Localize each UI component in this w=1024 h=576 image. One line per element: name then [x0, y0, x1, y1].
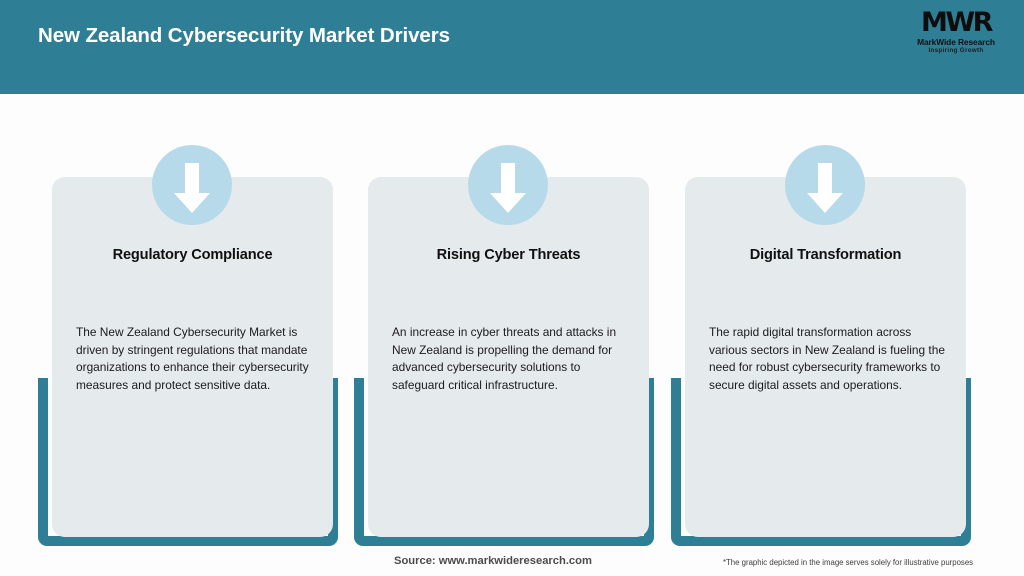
driver-card[interactable]: Rising Cyber Threats An increase in cybe…: [368, 177, 649, 537]
driver-card-body: The New Zealand Cybersecurity Market is …: [76, 324, 317, 394]
arrow-down-icon: [785, 145, 865, 225]
slide-canvas: New Zealand Cybersecurity Market Drivers…: [0, 0, 1024, 576]
driver-card-group-2: Rising Cyber Threats An increase in cybe…: [354, 0, 654, 576]
driver-card-body: An increase in cyber threats and attacks…: [392, 324, 633, 394]
driver-card-title: Regulatory Compliance: [52, 247, 333, 263]
arrow-down-icon: [152, 145, 232, 225]
driver-card-title: Digital Transformation: [685, 247, 966, 263]
driver-card-title: Rising Cyber Threats: [368, 247, 649, 263]
driver-card-group-3: Digital Transformation The rapid digital…: [671, 0, 971, 576]
driver-card-body: The rapid digital transformation across …: [709, 324, 950, 394]
source-label: Source: www.markwideresearch.com: [394, 555, 592, 567]
driver-card-group-1: Regulatory Compliance The New Zealand Cy…: [38, 0, 338, 576]
driver-card[interactable]: Digital Transformation The rapid digital…: [685, 177, 966, 537]
arrow-down-icon: [468, 145, 548, 225]
driver-card[interactable]: Regulatory Compliance The New Zealand Cy…: [52, 177, 333, 537]
disclaimer-label: *The graphic depicted in the image serve…: [723, 558, 973, 567]
